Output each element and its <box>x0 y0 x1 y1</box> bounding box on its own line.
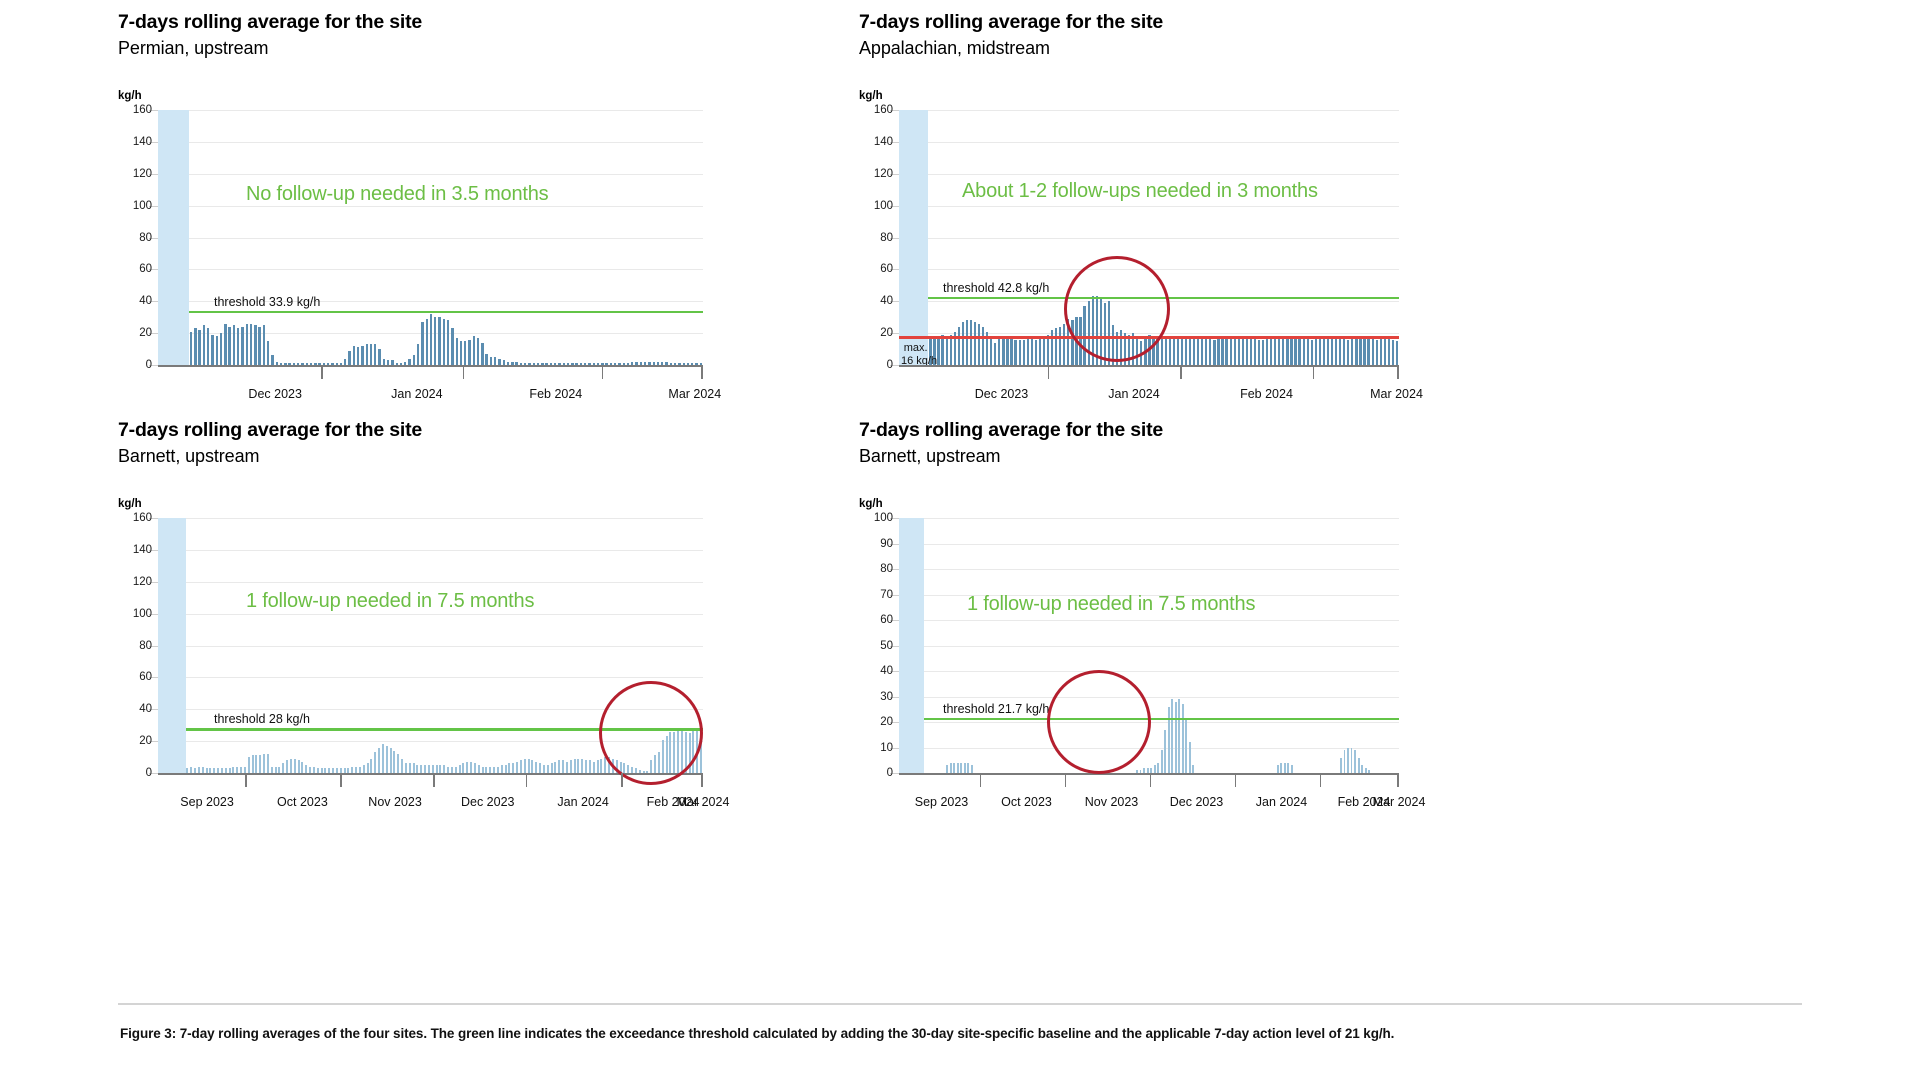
bar <box>593 762 595 773</box>
bar <box>241 327 243 365</box>
chart-panel-barnett-upstream-1: 7-days rolling average for the site Barn… <box>118 410 859 810</box>
y-tick-label: 160 <box>874 104 893 116</box>
x-tick-label: Mar 2024 <box>668 387 721 401</box>
bar <box>207 328 209 365</box>
x-tick-label: Jan 2024 <box>557 795 608 809</box>
bar <box>1209 338 1211 365</box>
bar <box>528 759 530 773</box>
x-tick-mark <box>526 773 528 787</box>
y-tick-label: 80 <box>880 232 893 244</box>
bar <box>1035 340 1037 366</box>
chart-panel-appalachian-midstream: 7-days rolling average for the site Appa… <box>859 10 1418 410</box>
bar <box>1031 338 1033 365</box>
bar <box>353 346 355 365</box>
bar <box>1258 340 1260 366</box>
bar <box>1246 338 1248 365</box>
x-tick-mark <box>340 773 342 787</box>
y-tick-label: 120 <box>133 576 152 588</box>
x-tick-label: Nov 2023 <box>368 795 422 809</box>
bar <box>566 762 568 773</box>
bar <box>1323 338 1325 365</box>
bar <box>971 765 973 773</box>
bar <box>589 760 591 773</box>
y-tick-label: 90 <box>880 538 893 550</box>
bar <box>978 324 980 365</box>
bar <box>462 763 464 773</box>
bar <box>255 755 257 773</box>
bar <box>420 765 422 773</box>
bar <box>1376 340 1378 366</box>
bar <box>1280 763 1282 773</box>
y-tick-label: 100 <box>874 512 893 524</box>
x-tick-label: Sep 2023 <box>915 795 969 809</box>
bar <box>267 754 269 773</box>
bar <box>950 763 952 773</box>
bar <box>1363 338 1365 365</box>
bar <box>570 760 572 773</box>
bar <box>250 324 252 365</box>
bar <box>426 319 428 365</box>
bar <box>1254 338 1256 365</box>
plot-area: 020406080100120140160threshold 33.9 kg/h… <box>158 110 703 365</box>
plot-area: 0102030405060708090100threshold 21.7 kg/… <box>899 518 1399 773</box>
chart-panel-barnett-upstream-2: 7-days rolling average for the site Barn… <box>859 410 1418 810</box>
bar <box>1339 336 1341 365</box>
bar <box>363 765 365 773</box>
bar <box>460 341 462 365</box>
bar <box>1010 338 1012 365</box>
bar <box>960 763 962 773</box>
bar <box>374 752 376 773</box>
bar <box>294 759 296 773</box>
bar <box>1193 338 1195 365</box>
bar <box>1154 765 1156 773</box>
x-tick-label: Mar 2024 <box>1373 795 1426 809</box>
x-tick-mark <box>1048 365 1050 379</box>
bar <box>451 328 453 365</box>
y-axis-unit-label: kg/h <box>118 498 142 510</box>
bar <box>508 763 510 773</box>
bar <box>401 759 403 773</box>
bar <box>1161 338 1163 365</box>
bar <box>1169 336 1171 365</box>
bar <box>501 765 503 773</box>
bar <box>405 763 407 773</box>
bar <box>1284 763 1286 773</box>
bar <box>190 332 192 365</box>
bar <box>466 762 468 773</box>
bar <box>539 763 541 773</box>
figure-container: 7-days rolling average for the site Perm… <box>0 0 1920 1080</box>
bar <box>220 333 222 365</box>
bar <box>994 343 996 365</box>
bar <box>1043 336 1045 365</box>
bar <box>966 320 968 365</box>
bar <box>1185 336 1187 365</box>
bar <box>447 320 449 365</box>
bar <box>233 325 235 365</box>
bar <box>1298 338 1300 365</box>
bar <box>1396 341 1398 365</box>
bar <box>1205 336 1207 365</box>
bar <box>263 325 265 365</box>
y-axis-unit-label: kg/h <box>859 90 883 102</box>
x-tick-label: Feb 2024 <box>1240 387 1293 401</box>
bar <box>970 320 972 365</box>
bar <box>490 357 492 365</box>
bar <box>520 760 522 773</box>
bar <box>1063 324 1065 365</box>
x-tick-label: Mar 2024 <box>677 795 730 809</box>
bar <box>1351 338 1353 365</box>
bar <box>1358 758 1360 773</box>
bar <box>1178 699 1180 773</box>
bar <box>393 751 395 773</box>
bar <box>1319 336 1321 365</box>
annotation-text: 1 follow-up needed in 7.5 months <box>967 593 1255 616</box>
bar <box>1161 750 1163 773</box>
bar <box>547 765 549 773</box>
threshold-label: threshold 42.8 kg/h <box>943 281 1049 295</box>
bar <box>1173 338 1175 365</box>
bar <box>298 760 300 773</box>
chart-panel-permian-upstream: 7-days rolling average for the site Perm… <box>118 10 859 410</box>
bar <box>286 760 288 773</box>
y-tick-label: 40 <box>139 703 152 715</box>
chart-subtitle: Barnett, upstream <box>859 445 1418 468</box>
bar <box>964 763 966 773</box>
bar <box>1290 338 1292 365</box>
bar <box>1286 336 1288 365</box>
x-tick-label: Dec 2023 <box>1170 795 1224 809</box>
x-tick-label: Jan 2024 <box>391 387 442 401</box>
bar <box>1221 336 1223 365</box>
y-tick-label: 0 <box>146 767 152 779</box>
bar <box>581 759 583 773</box>
bar <box>990 336 992 365</box>
x-tick-mark <box>1397 365 1399 379</box>
bar <box>1347 748 1349 774</box>
bar <box>543 765 545 773</box>
y-tick-label: 120 <box>133 168 152 180</box>
x-tick-label: Sep 2023 <box>180 795 234 809</box>
bar <box>1262 340 1264 366</box>
bar <box>946 765 948 773</box>
x-tick-mark <box>321 365 323 379</box>
y-tick-label: 40 <box>139 295 152 307</box>
chart-subtitle: Barnett, upstream <box>118 445 859 468</box>
bar <box>1182 704 1184 773</box>
bar <box>1270 336 1272 365</box>
bar <box>470 762 472 773</box>
bar <box>535 762 537 773</box>
bar <box>1266 338 1268 365</box>
bar <box>1006 338 1008 365</box>
x-axis-line <box>158 365 703 367</box>
bar <box>432 765 434 773</box>
bar <box>1051 330 1053 365</box>
threshold-label: threshold 21.7 kg/h <box>943 702 1049 716</box>
x-tick-label: Oct 2023 <box>1001 795 1052 809</box>
bar <box>967 763 969 773</box>
y-axis-unit-label: kg/h <box>859 498 883 510</box>
bar <box>937 336 939 365</box>
bar <box>430 314 432 365</box>
charts-grid: 7-days rolling average for the site Perm… <box>118 10 1418 995</box>
x-tick-mark <box>245 773 247 787</box>
bar <box>562 760 564 773</box>
bar <box>597 760 599 773</box>
bar <box>382 744 384 773</box>
threshold-label: threshold 28 kg/h <box>214 712 310 726</box>
bar <box>1238 338 1240 365</box>
bar <box>1014 340 1016 366</box>
bar <box>1291 765 1293 773</box>
bar <box>1340 758 1342 773</box>
bar <box>1344 750 1346 773</box>
annotation-text: 1 follow-up needed in 7.5 months <box>246 590 534 613</box>
bar <box>1002 338 1004 365</box>
bar <box>378 748 380 774</box>
bar <box>439 765 441 773</box>
bar <box>416 765 418 773</box>
y-tick-label: 50 <box>880 640 893 652</box>
bar <box>397 754 399 773</box>
bar <box>1059 327 1061 365</box>
bar <box>413 763 415 773</box>
bar <box>282 763 284 773</box>
bar <box>1277 765 1279 773</box>
bar <box>474 763 476 773</box>
bar <box>438 317 440 365</box>
bar <box>1367 336 1369 365</box>
plot-area: 020406080100120140160threshold 28 kg/hSe… <box>158 518 703 773</box>
bar <box>436 765 438 773</box>
y-tick-label: 40 <box>880 665 893 677</box>
bar <box>1361 765 1363 773</box>
bar <box>585 760 587 773</box>
bar <box>271 355 273 365</box>
bar <box>1335 338 1337 365</box>
x-tick-mark <box>1320 773 1322 787</box>
bar <box>941 335 943 365</box>
x-tick-mark <box>1065 773 1067 787</box>
bar <box>258 327 260 365</box>
chart-title: 7-days rolling average for the site <box>859 418 1418 442</box>
y-tick-label: 0 <box>887 767 893 779</box>
bar <box>246 324 248 365</box>
y-tick-label: 60 <box>880 263 893 275</box>
bar <box>558 760 560 773</box>
bar <box>1274 338 1276 365</box>
bar <box>1242 336 1244 365</box>
bar <box>252 755 254 773</box>
bar <box>409 763 411 773</box>
bar <box>1171 699 1173 773</box>
bar <box>1217 338 1219 365</box>
caption-divider <box>118 1003 1802 1005</box>
bar <box>290 759 292 773</box>
x-tick-mark <box>621 773 623 787</box>
bar <box>1343 338 1345 365</box>
bar <box>1384 336 1386 365</box>
chart-subtitle: Permian, upstream <box>118 37 859 60</box>
bar <box>428 765 430 773</box>
chart-title: 7-days rolling average for the site <box>859 10 1418 34</box>
bar <box>1250 336 1252 365</box>
bar <box>554 762 556 773</box>
bar-series <box>158 110 703 365</box>
bar <box>305 765 307 773</box>
y-tick-label: 60 <box>139 263 152 275</box>
bar <box>531 760 533 773</box>
bar <box>267 341 269 365</box>
bar <box>574 759 576 773</box>
y-tick-label: 160 <box>133 104 152 116</box>
bar <box>1307 338 1309 365</box>
x-tick-label: Jan 2024 <box>1256 795 1307 809</box>
bar <box>1354 750 1356 773</box>
y-tick-label: 30 <box>880 691 893 703</box>
bar <box>982 327 984 365</box>
bar <box>1175 702 1177 773</box>
bar <box>370 759 372 773</box>
y-tick-label: 140 <box>133 544 152 556</box>
bar <box>459 765 461 773</box>
x-tick-mark <box>1150 773 1152 787</box>
x-tick-label: Oct 2023 <box>277 795 328 809</box>
y-tick-label: 140 <box>874 136 893 148</box>
threshold-line <box>189 311 703 313</box>
bar <box>1351 748 1353 774</box>
bar <box>1047 335 1049 365</box>
bar <box>1165 336 1167 365</box>
bar <box>390 748 392 774</box>
bar <box>953 763 955 773</box>
y-tick-label: 60 <box>880 614 893 626</box>
bar <box>1388 338 1390 365</box>
bar <box>1027 338 1029 365</box>
bar <box>1189 336 1191 365</box>
bar <box>1359 338 1361 365</box>
y-tick-label: 160 <box>133 512 152 524</box>
highlight-circle <box>599 681 703 785</box>
x-tick-mark <box>602 365 604 379</box>
bar <box>473 336 475 365</box>
bar <box>600 759 602 773</box>
bar <box>468 340 470 366</box>
chart-subtitle: Appalachian, midstream <box>859 37 1418 60</box>
y-tick-label: 140 <box>133 136 152 148</box>
y-tick-label: 60 <box>139 671 152 683</box>
bar <box>505 765 507 773</box>
y-axis-unit-label: kg/h <box>118 90 142 102</box>
bar <box>1355 336 1357 365</box>
bar <box>1287 763 1289 773</box>
x-tick-label: Feb 2024 <box>529 387 582 401</box>
bar <box>1311 340 1313 366</box>
y-tick-label: 100 <box>133 200 152 212</box>
bar <box>1201 336 1203 365</box>
bar <box>224 324 226 365</box>
bar <box>958 327 960 365</box>
plot-area: 020406080100120140160max.16 kg/hthreshol… <box>899 110 1399 365</box>
bar <box>421 322 423 365</box>
x-tick-mark <box>1235 773 1237 787</box>
bar <box>456 338 458 365</box>
bar <box>198 330 200 365</box>
bar <box>424 765 426 773</box>
bar <box>524 759 526 773</box>
bar <box>1213 340 1215 366</box>
y-tick-label: 20 <box>139 735 152 747</box>
bar <box>1019 340 1021 366</box>
y-tick-label: 100 <box>133 608 152 620</box>
bar <box>974 322 976 365</box>
bar <box>1278 338 1280 365</box>
bar <box>998 338 1000 365</box>
x-tick-mark <box>701 365 703 379</box>
x-tick-label: Dec 2023 <box>461 795 515 809</box>
bar <box>1372 338 1374 365</box>
bar <box>950 335 952 365</box>
bar <box>485 354 487 365</box>
bar <box>494 357 496 365</box>
bar <box>1282 336 1284 365</box>
chart-title: 7-days rolling average for the site <box>118 418 859 442</box>
bar <box>1055 328 1057 365</box>
bar <box>1347 340 1349 366</box>
annotation-text: No follow-up needed in 3.5 months <box>246 183 548 206</box>
bar <box>348 351 350 365</box>
bar <box>1164 730 1166 773</box>
highlight-circle <box>1047 670 1151 774</box>
chart-title: 7-days rolling average for the site <box>118 10 859 34</box>
bar <box>378 349 380 365</box>
y-tick-label: 20 <box>880 716 893 728</box>
y-tick-label: 20 <box>880 327 893 339</box>
bar <box>1157 763 1159 773</box>
bar <box>361 346 363 365</box>
bar <box>577 759 579 773</box>
bar <box>1315 338 1317 365</box>
x-tick-mark <box>701 773 703 787</box>
bar <box>1189 742 1191 773</box>
x-tick-mark <box>463 365 465 379</box>
bar <box>374 344 376 365</box>
bar <box>386 746 388 773</box>
bar <box>211 335 213 365</box>
max-reference-label: max.16 kg/h <box>901 342 930 367</box>
bar <box>962 322 964 365</box>
y-tick-label: 0 <box>146 359 152 371</box>
bar <box>1230 338 1232 365</box>
highlight-circle <box>1064 256 1170 362</box>
bar <box>1225 336 1227 365</box>
bar <box>516 762 518 773</box>
bar <box>417 344 419 365</box>
bar <box>259 755 261 773</box>
bar <box>357 347 359 365</box>
bar <box>1327 338 1329 365</box>
y-tick-label: 80 <box>880 563 893 575</box>
bar <box>1185 719 1187 773</box>
x-tick-label: Jan 2024 <box>1108 387 1159 401</box>
threshold-line <box>924 718 1399 720</box>
bar <box>413 355 415 365</box>
y-tick-label: 100 <box>874 200 893 212</box>
bar <box>301 762 303 773</box>
